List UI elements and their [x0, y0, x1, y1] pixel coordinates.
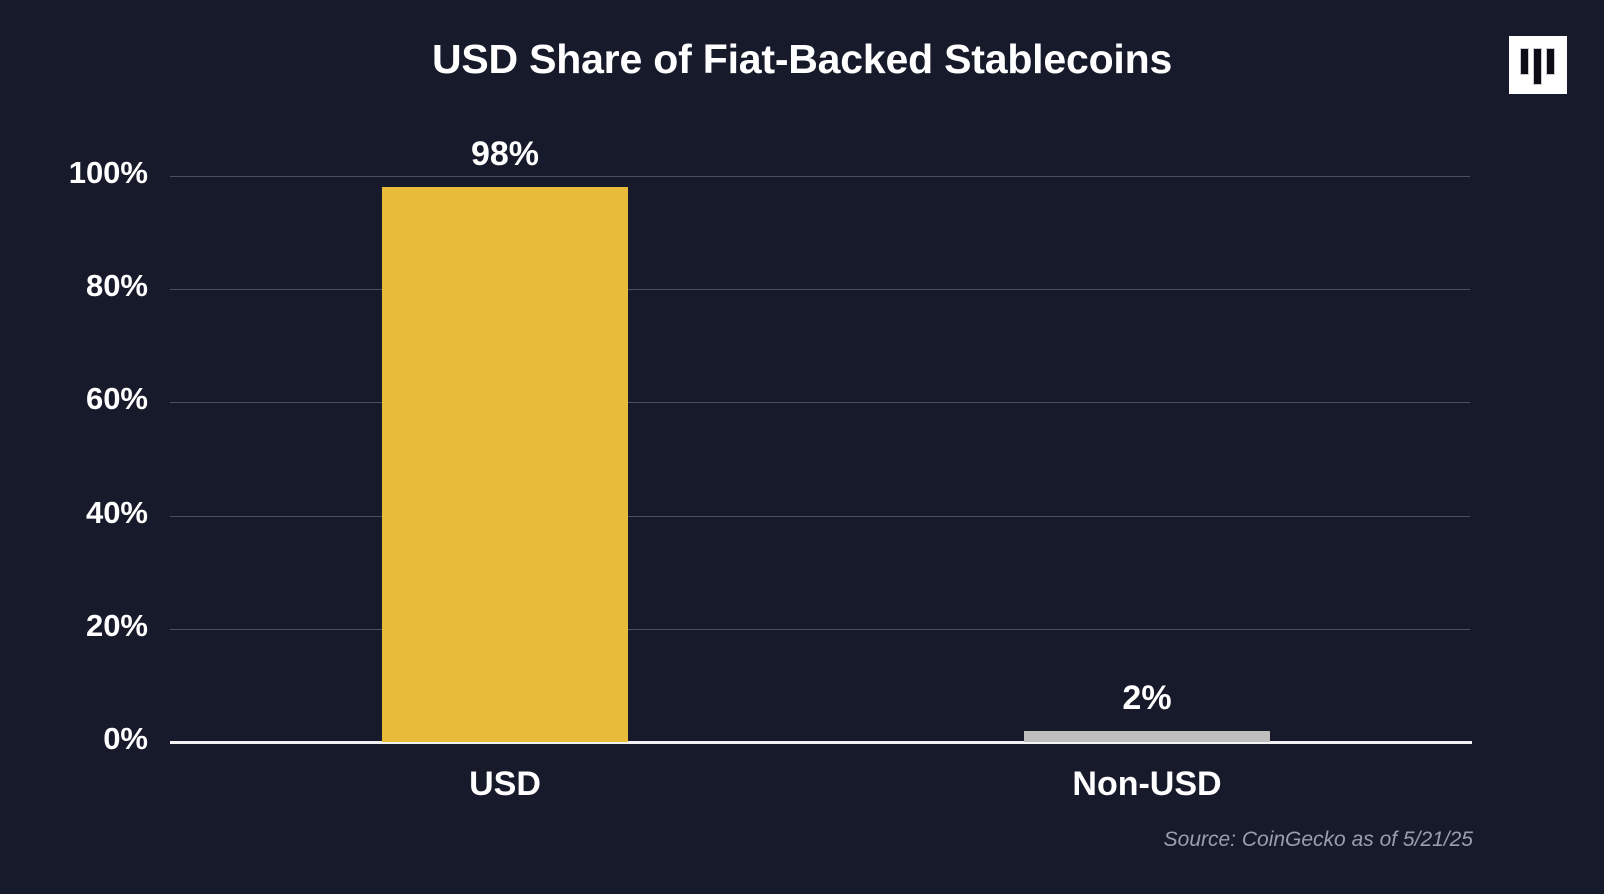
chart-figure: USD Share of Fiat-Backed Stablecoins 0%2… — [0, 0, 1604, 894]
gridline — [170, 289, 1470, 290]
x-axis-line — [170, 741, 1472, 744]
logo-bar-left — [1520, 48, 1529, 75]
y-axis-tick-label: 60% — [0, 381, 148, 417]
gridline — [170, 402, 1470, 403]
y-axis-tick-label: 100% — [0, 155, 148, 191]
bar-value-label: 98% — [382, 135, 628, 174]
y-axis-tick-label: 20% — [0, 608, 148, 644]
bar-non-usd[interactable] — [1024, 731, 1270, 742]
bar-usd[interactable] — [382, 187, 628, 742]
bar-value-label: 2% — [1024, 679, 1270, 718]
logo-bar-right — [1546, 48, 1555, 75]
source-attribution: Source: CoinGecko as of 5/21/25 — [1164, 828, 1473, 852]
plot-area — [170, 176, 1470, 742]
y-axis-tick-label: 80% — [0, 268, 148, 304]
page-title: USD Share of Fiat-Backed Stablecoins — [0, 36, 1604, 83]
brand-logo-icon — [1509, 36, 1567, 94]
x-axis-category-label: Non-USD — [947, 765, 1347, 804]
y-axis-tick-label: 40% — [0, 495, 148, 531]
y-axis-tick-label: 0% — [0, 721, 148, 757]
x-axis-category-label: USD — [305, 765, 705, 804]
gridline — [170, 516, 1470, 517]
gridline — [170, 176, 1470, 177]
logo-bar-middle — [1533, 48, 1542, 85]
gridline — [170, 629, 1470, 630]
